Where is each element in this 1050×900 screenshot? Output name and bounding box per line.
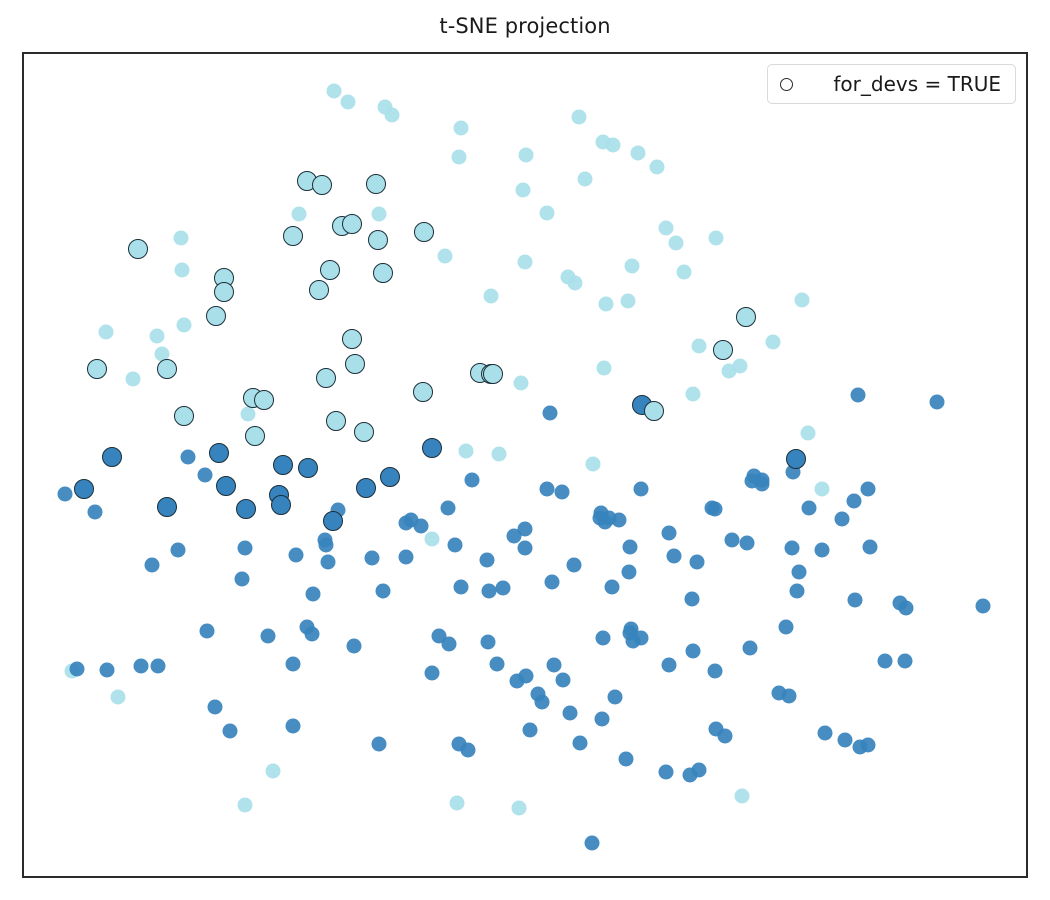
scatter-point [540, 482, 555, 497]
scatter-point [448, 538, 463, 553]
scatter-point [736, 307, 756, 327]
scatter-point [266, 764, 281, 779]
scatter-point [690, 555, 705, 570]
scatter-point [74, 479, 94, 499]
scatter-point [766, 335, 781, 350]
scatter-point [372, 737, 387, 752]
scatter-point [241, 407, 256, 422]
scatter-point [157, 497, 177, 517]
scatter-point [713, 340, 733, 360]
scatter-point [289, 548, 304, 563]
scatter-point [450, 796, 465, 811]
scatter-point [461, 743, 476, 758]
scatter-point [835, 512, 850, 527]
scatter-point [88, 505, 103, 520]
scatter-point [735, 789, 750, 804]
scatter-point [626, 634, 641, 649]
scatter-point [216, 476, 236, 496]
scatter-point [659, 765, 674, 780]
scatter-point [543, 406, 558, 421]
scatter-point [686, 644, 701, 659]
scatter-point [599, 297, 614, 312]
scatter-point [563, 706, 578, 721]
scatter-point [623, 540, 638, 555]
scatter-point [321, 555, 336, 570]
scatter-point [547, 658, 562, 673]
scatter-point [174, 231, 189, 246]
scatter-point [414, 222, 434, 242]
scatter-point [208, 700, 223, 715]
scatter-point [518, 255, 533, 270]
scatter-point [572, 110, 587, 125]
scatter-point [316, 368, 336, 388]
scatter-point [519, 669, 534, 684]
scatter-point [177, 318, 192, 333]
scatter-point [372, 207, 387, 222]
scatter-point [283, 226, 303, 246]
scatter-point [795, 293, 810, 308]
scatter-point [686, 387, 701, 402]
scatter-point [442, 637, 457, 652]
scatter-point [507, 529, 522, 544]
scatter-point [482, 584, 497, 599]
scatter-point [535, 695, 550, 710]
scatter-point [708, 664, 723, 679]
scatter-point [151, 659, 166, 674]
scatter-point [347, 639, 362, 654]
scatter-point [851, 388, 866, 403]
scatter-point [667, 549, 682, 564]
scatter-point [555, 485, 570, 500]
scatter-point [238, 798, 253, 813]
scatter-point [899, 601, 914, 616]
scatter-point [662, 526, 677, 541]
scatter-point [175, 263, 190, 278]
scatter-point [365, 551, 380, 566]
scatter-point [786, 449, 806, 469]
scatter-point [342, 214, 362, 234]
scatter-point [669, 236, 684, 251]
scatter-point [261, 629, 276, 644]
scatter-point [596, 631, 611, 646]
scatter-point [306, 587, 321, 602]
scatter-point [785, 541, 800, 556]
scatter-point [631, 146, 646, 161]
scatter-point [305, 627, 320, 642]
scatter-point [802, 501, 817, 516]
scatter-point [595, 712, 610, 727]
scatter-point [490, 657, 505, 672]
legend-marker-circle-open-icon [780, 78, 793, 91]
scatter-point [223, 724, 238, 739]
scatter-point [878, 654, 893, 669]
scatter-point [861, 738, 876, 753]
scatter-point [87, 359, 107, 379]
scatter-point [512, 801, 527, 816]
scatter-point [692, 339, 707, 354]
scatter-point [323, 511, 343, 531]
scatter-point [540, 206, 555, 221]
scatter-point [481, 635, 496, 650]
scatter-point [608, 690, 623, 705]
scatter-point [422, 438, 442, 458]
scatter-point [519, 148, 534, 163]
scatter-point [354, 422, 374, 442]
scatter-point [327, 84, 342, 99]
scatter-point [523, 723, 538, 738]
scatter-point [818, 726, 833, 741]
scatter-point [206, 306, 226, 326]
scatter-point [863, 540, 878, 555]
scatter-point [298, 458, 318, 478]
scatter-point [815, 543, 830, 558]
scatter-point [685, 592, 700, 607]
scatter-point [452, 150, 467, 165]
scatter-point [235, 572, 250, 587]
scatter-point [425, 666, 440, 681]
scatter-point [930, 395, 945, 410]
scatter-point [792, 565, 807, 580]
scatter-point [621, 294, 636, 309]
scatter-point [425, 532, 440, 547]
scatter-point [898, 654, 913, 669]
scatter-point [743, 641, 758, 656]
plot-area: for_devs = TRUE [22, 52, 1028, 878]
scatter-point [545, 575, 560, 590]
scatter-point [342, 329, 362, 349]
scatter-point [214, 282, 234, 302]
scatter-point [755, 473, 770, 488]
scatter-point [597, 361, 612, 376]
scatter-point [483, 364, 503, 384]
scatter-point [174, 406, 194, 426]
scatter-point [111, 690, 126, 705]
scatter-point [779, 620, 794, 635]
scatter-point [245, 426, 265, 446]
scatter-point [128, 239, 148, 259]
scatter-point [413, 382, 433, 402]
scatter-point [484, 289, 499, 304]
scatter-point [725, 533, 740, 548]
scatter-point [659, 221, 674, 236]
scatter-point [209, 443, 229, 463]
scatter-point [441, 501, 456, 516]
scatter-point [145, 558, 160, 573]
scatter-point [718, 729, 733, 744]
scatter-point [677, 265, 692, 280]
scatter-point [496, 581, 511, 596]
scatter-point [286, 657, 301, 672]
scatter-point [286, 719, 301, 734]
scatter-point [157, 359, 177, 379]
scatter-point [593, 511, 608, 526]
scatter-point [492, 447, 507, 462]
scatter-point [399, 550, 414, 565]
scatter-point [200, 624, 215, 639]
scatter-point [373, 263, 393, 283]
scatter-point [606, 138, 621, 153]
scatter-point [150, 329, 165, 344]
scatter-point [134, 659, 149, 674]
scatter-point [376, 584, 391, 599]
scatter-point [454, 580, 469, 595]
scatter-point [238, 541, 253, 556]
scatter-point [465, 473, 480, 488]
scatter-point [585, 836, 600, 851]
scatter-point [605, 580, 620, 595]
scatter-point [578, 172, 593, 187]
scatter-point [586, 457, 601, 472]
scatter-point [556, 673, 571, 688]
scatter-point [790, 584, 805, 599]
scatter-point [782, 689, 797, 704]
scatter-point [709, 231, 724, 246]
scatter-point [733, 359, 748, 374]
scatter-point [102, 447, 122, 467]
scatter-point [514, 376, 529, 391]
scatter-point [619, 752, 634, 767]
legend-entry-label: for_devs = TRUE [833, 72, 1001, 96]
scatter-point [568, 276, 583, 291]
scatter-point [171, 543, 186, 558]
tsne-figure: t-SNE projection for_devs = TRUE [0, 0, 1050, 900]
scatter-point [644, 401, 664, 421]
scatter-point [740, 536, 755, 551]
scatter-point [292, 207, 307, 222]
scatter-point [273, 455, 293, 475]
scatter-point [518, 541, 533, 556]
scatter-point [356, 478, 376, 498]
scatter-point [198, 468, 213, 483]
scatter-point [99, 325, 114, 340]
scatter-point [320, 260, 340, 280]
scatter-point [236, 499, 256, 519]
scatter-point [309, 280, 329, 300]
scatter-point [368, 230, 388, 250]
scatter-point [58, 487, 73, 502]
legend[interactable]: for_devs = TRUE [767, 64, 1016, 104]
page-title: t-SNE projection [0, 14, 1050, 38]
scatter-point [326, 411, 346, 431]
scatter-point [976, 599, 991, 614]
scatter-point [271, 495, 291, 515]
scatter-point [181, 450, 196, 465]
scatter-point [341, 95, 356, 110]
scatter-point [848, 593, 863, 608]
scatter-point [847, 494, 862, 509]
scatter-point [70, 662, 85, 677]
scatter-point [708, 502, 723, 517]
scatter-point [838, 733, 853, 748]
scatter-point [662, 658, 677, 673]
scatter-point [385, 108, 400, 123]
scatter-point [380, 467, 400, 487]
scatter-point [815, 482, 830, 497]
scatter-point [345, 354, 365, 374]
scatter-point [801, 426, 816, 441]
scatter-point [634, 482, 649, 497]
scatter-point [516, 183, 531, 198]
scatter-point [650, 160, 665, 175]
scatter-point [100, 663, 115, 678]
scatter-point [254, 390, 274, 410]
scatter-point [567, 558, 582, 573]
scatter-point [622, 565, 637, 580]
scatter-point [126, 372, 141, 387]
scatter-point [366, 174, 386, 194]
scatter-point [861, 482, 876, 497]
scatter-point [692, 763, 707, 778]
scatter-point [404, 513, 419, 528]
scatter-point [573, 736, 588, 751]
scatter-point [319, 538, 334, 553]
scatter-point [625, 259, 640, 274]
scatter-point [454, 121, 469, 136]
scatter-point [312, 175, 332, 195]
scatter-point [459, 444, 474, 459]
scatter-points-layer [24, 54, 1026, 876]
scatter-point [438, 249, 453, 264]
scatter-point [480, 553, 495, 568]
